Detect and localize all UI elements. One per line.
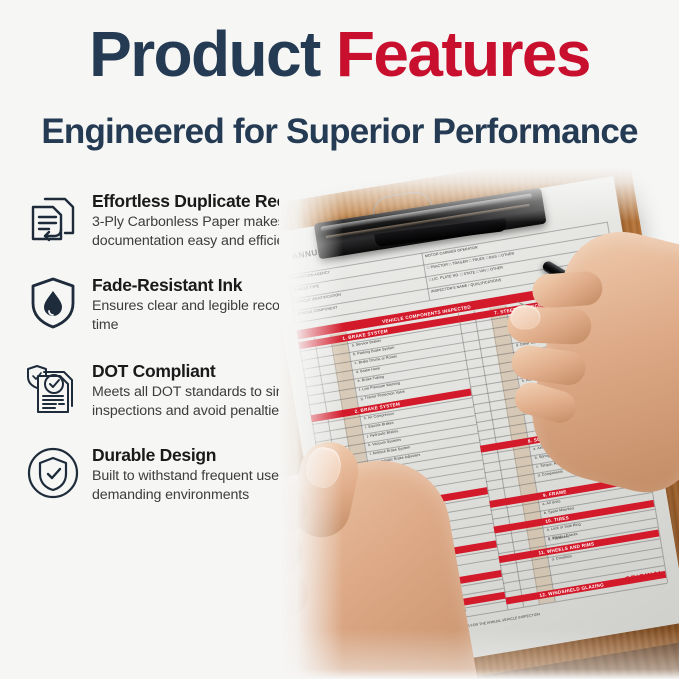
page-title: Product Features: [0, 22, 679, 86]
product-features-page: Product Features Engineered for Superior…: [0, 0, 679, 679]
form-line-item: e. Brake Tubing: [357, 375, 384, 383]
form-line-item: a. Service Brakes: [351, 339, 381, 348]
page-subtitle: Engineered for Superior Performance: [0, 114, 679, 149]
product-photo: BUCK U.S. ANNUAL VEHICLE INSPECTION REPO…: [279, 168, 679, 679]
page-title-part-2: Features: [336, 18, 590, 90]
page-subtitle-text: Engineered for Superior Performance: [41, 112, 637, 151]
circle-shield-check-icon: [22, 442, 84, 504]
form-copy-label: ORIGINAL: [625, 570, 665, 583]
form-line-item: i. Electric Brakes: [365, 421, 394, 430]
form-line-item: d. Components: [537, 469, 563, 477]
shield-droplet-icon: [22, 272, 84, 334]
document-check-shield-icon: [22, 358, 84, 420]
duplicate-documents-icon: [22, 188, 84, 250]
page-title-part-1: Product: [89, 18, 336, 90]
